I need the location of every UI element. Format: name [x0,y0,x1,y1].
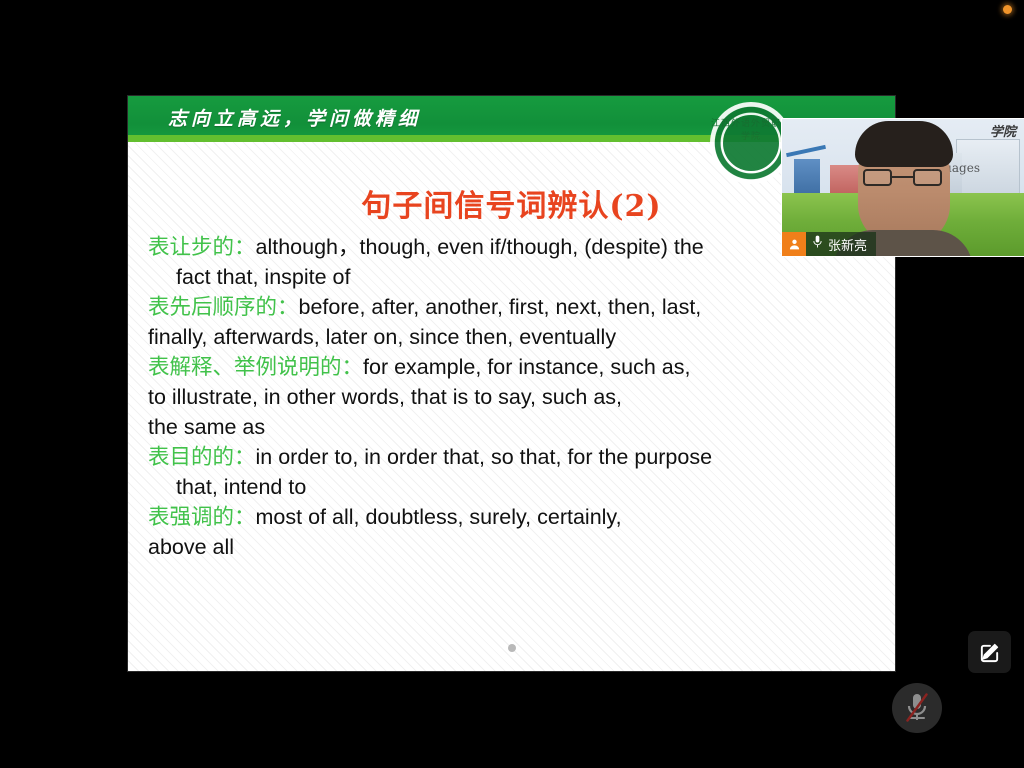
name-badge-body: 张新亮 [806,232,876,256]
block-line-1: for example, for instance, such as, [363,355,690,379]
block-line-1: most of all, doubtless, surely, certainl… [256,505,622,529]
block-line-2: finally, afterwards, later on, since the… [148,322,885,352]
pen-icon [978,641,1001,664]
block-line-2: to illustrate, in other words, that is t… [148,382,885,412]
background-building-blue [794,159,820,195]
block-label: 表先后顺序的： [148,295,299,319]
microphone-mute-button[interactable] [892,683,942,733]
block-label: 表让步的： [148,235,256,259]
annotate-button[interactable] [968,631,1011,673]
eyeglass-bridge [892,176,913,178]
slide-title: 句子间信号词辨认(2) [128,181,895,225]
signal-word-block: 表解释、举例说明的：for example, for instance, suc… [148,352,885,442]
participant-name: 张新亮 [828,235,867,254]
block-line-2: above all [148,532,885,562]
microphone-muted-icon [904,693,930,723]
block-line-3: the same as [148,412,885,442]
signal-word-block: 表让步的：although，though, even if/though, (d… [148,232,885,292]
block-line-2: fact that, inspite of [148,262,351,292]
block-label: 表目的的： [148,445,256,469]
school-seal-logo: 江西外语外贸职业学院 [710,102,792,184]
signal-word-block: 表强调的：most of all, doubtless, surely, cer… [148,502,885,562]
slide-motto-text: 志向立高远，学问做精细 [168,104,421,131]
presentation-slide: 志向立高远，学问做精细 江西外语外贸职业学院 句子间信号词辨认(2) 表让步的：… [128,96,895,671]
block-line-1: in order to, in order that, so that, for… [256,445,713,469]
signal-word-block: 表目的的：in order to, in order that, so that… [148,442,885,502]
participant-hair [855,121,953,167]
recording-indicator-dot [1003,5,1012,14]
person-icon [782,232,806,256]
slide-body-content: 表让步的：although，though, even if/though, (d… [148,232,885,562]
block-line-1: although，though, even if/though, (despit… [256,235,704,259]
eyeglass-left [863,169,892,186]
participant-video-tile[interactable]: 学院 nguages 张新亮 [782,119,1024,256]
slide-page-indicator-dot [508,644,516,652]
background-building-pink [830,165,860,195]
block-line-1: before, after, another, first, next, the… [299,295,702,319]
microphone-icon [812,235,823,254]
signal-word-block: 表先后顺序的：before, after, another, first, ne… [148,292,885,352]
block-line-2: that, intend to [148,472,306,502]
eyeglass-right [913,169,942,186]
block-label: 表强调的： [148,505,256,529]
block-label: 表解释、举例说明的： [148,355,363,379]
seal-label: 江西外语外贸职业学院 [710,116,792,142]
background-logo-text: 学院 [990,121,1016,140]
participant-name-badge: 张新亮 [782,232,876,256]
